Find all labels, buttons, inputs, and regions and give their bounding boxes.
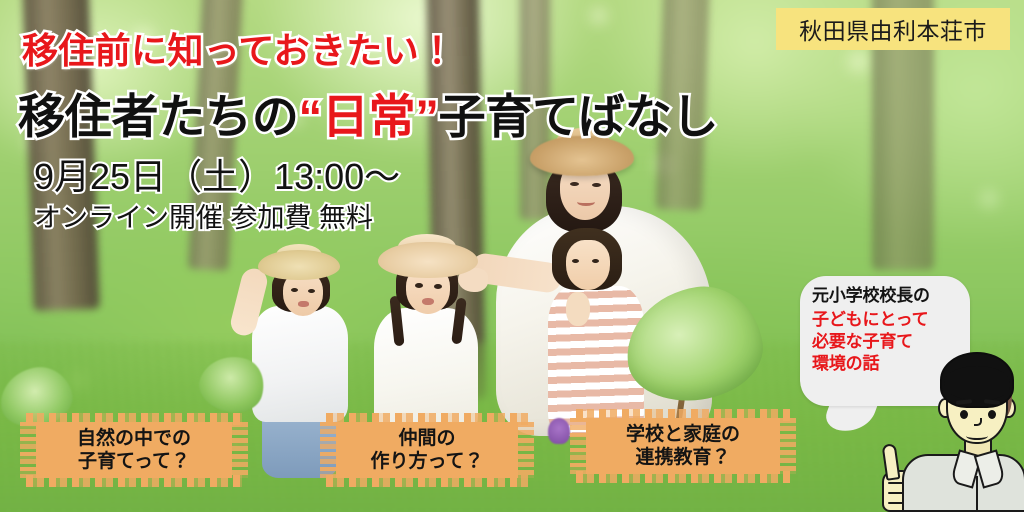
kicker-text: 移住前に知っておきたい！ [22,22,455,74]
topic-banner-text: 仲間の 作り方って？ [370,427,483,473]
topic-banner-line2: 子育てって？ [77,450,191,473]
child-frilled-hat [378,242,478,278]
character-mouth [966,432,988,440]
child-straw-hat [258,250,340,280]
headline-part2: 子育てばなし [439,90,719,143]
location-badge-label: 秋田県由利本荘市 [799,12,987,46]
character-fringe [944,366,1010,400]
child-face [566,240,610,290]
topic-banner-line1: 学校と家庭の [626,423,740,446]
headline-accent: 日常 [322,90,416,143]
child-mouth [298,301,309,307]
brush-edge [326,475,528,487]
topic-banner-line2: 作り方って？ [370,450,483,473]
shirt-placket [976,476,978,512]
woman-eye [570,182,579,186]
event-poster: 秋田県由利本荘市 移住前に知っておきたい！ 移住者たちの“日常”子育てばなし 9… [0,0,1024,512]
headline-quote-open: “ [299,90,322,143]
character-eye [988,410,996,419]
location-badge: 秋田県由利本荘市 [776,8,1010,50]
child-hand [566,292,590,326]
brush-edge [26,475,242,487]
page-title: 移住者たちの“日常”子育てばなし [18,78,718,147]
topic-banner-line1: 仲間の [370,427,483,450]
character-eye [960,410,968,419]
headline-part1: 移住者たちの [18,90,299,143]
child-eye [572,259,579,263]
topic-banner-text: 学校と家庭の 連携教育？ [626,423,740,469]
brush-edge [576,409,790,421]
child-eye [434,284,442,289]
child-eye [415,283,423,288]
child-mouth [422,298,434,305]
topic-banner-text: 自然の中での 子育てって？ [77,427,191,473]
woman-smile [577,198,595,206]
topic-banner: 学校と家庭の 連携教育？ [586,418,780,474]
topic-banner: 自然の中での 子育てって？ [36,422,232,478]
child-eye [291,288,298,292]
brush-edge [326,413,528,425]
child-eye [308,289,315,293]
speech-line-1: 子どもにとって [812,309,960,331]
woman-eye [592,183,601,187]
topic-banner-line2: 連携教育？ [626,446,740,469]
topic-banner: 仲間の 作り方って？ [336,422,518,478]
child-tshirt [252,306,348,422]
event-datetime: 9月25日（土）13:00〜 [34,148,400,200]
brush-edge [576,471,790,483]
brush-edge [26,413,242,425]
child-eye [592,259,599,263]
event-format-and-fee: オンライン開催 参加費 無料 [34,196,373,235]
speech-line-2: 必要な子育て [812,331,960,353]
purple-flower [548,418,570,444]
speaker-title: 元小学校校長の [812,285,960,307]
headline-quote-close: ” [415,90,438,143]
speaker-illustration [932,352,1024,512]
topic-banner-line1: 自然の中での [77,427,191,450]
